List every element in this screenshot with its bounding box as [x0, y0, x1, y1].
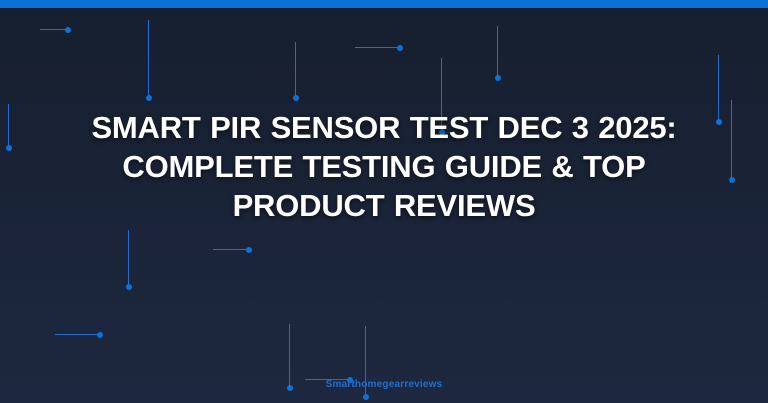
deco-vline-8-dot	[126, 284, 132, 290]
deco-vline-2	[148, 20, 149, 98]
deco-vline-3-dot	[293, 95, 299, 101]
brand-watermark: Smarthomegearreviews	[0, 379, 768, 390]
deco-hline-3-dot	[97, 332, 103, 338]
deco-hline-2	[355, 47, 400, 48]
deco-hline-2-dot	[397, 45, 403, 51]
deco-hline-1-dot	[65, 27, 71, 33]
deco-vline-3	[295, 42, 296, 98]
deco-hline-4-dot	[246, 247, 252, 253]
deco-vline-5-dot	[495, 75, 501, 81]
deco-vline-2-dot	[146, 95, 152, 101]
deco-hline-1	[40, 29, 68, 30]
deco-vline-5	[497, 26, 498, 78]
deco-vline-10-dot	[363, 394, 369, 400]
page-title: Smart PIR Sensor Test Dec 3 2025: Comple…	[56, 108, 712, 225]
deco-hline-4	[213, 249, 249, 250]
title-container: Smart PIR Sensor Test Dec 3 2025: Comple…	[0, 108, 768, 225]
deco-hline-3	[55, 334, 100, 335]
deco-vline-8	[128, 230, 129, 287]
top-accent-bar	[0, 0, 768, 8]
hero-banner: Smart PIR Sensor Test Dec 3 2025: Comple…	[0, 0, 768, 403]
